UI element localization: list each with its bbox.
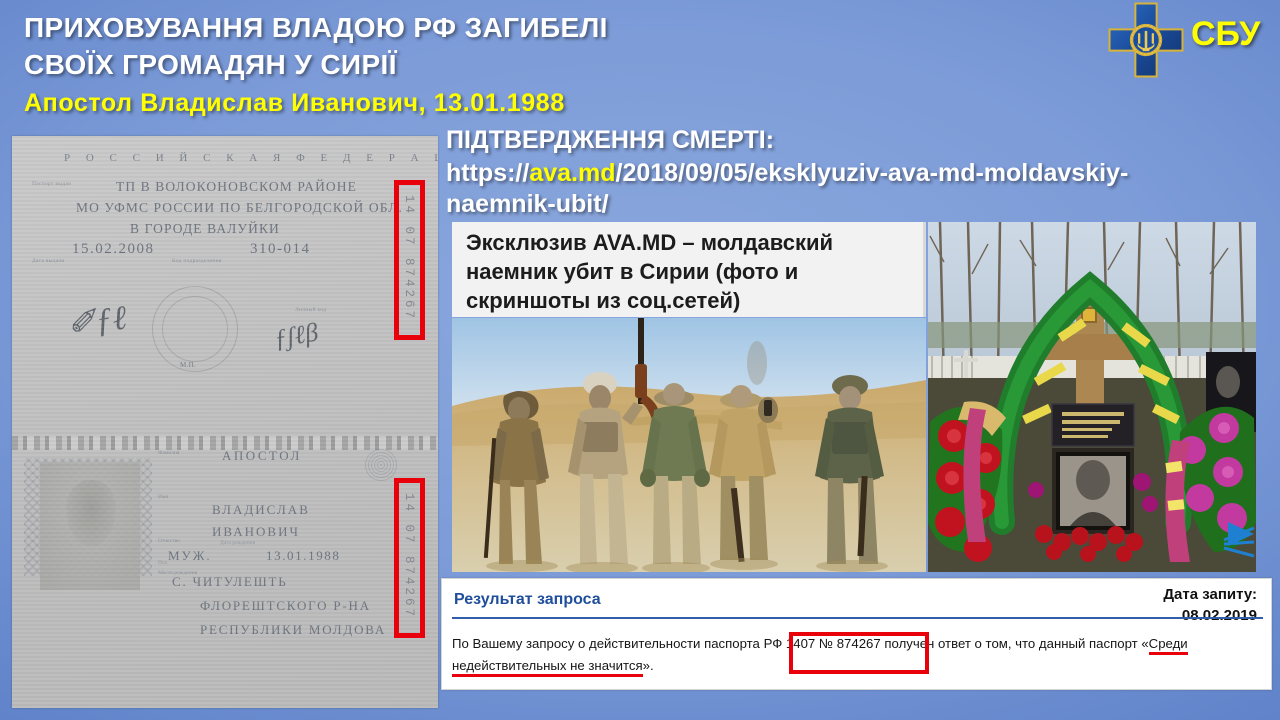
url-prefix: https://: [446, 159, 529, 187]
passport-authority-line1: ТП В ВОЛОКОНОВСКОМ РАЙОНЕ: [116, 179, 357, 195]
sbu-logo-text: СБУ: [1191, 15, 1260, 54]
article-headline: Эксклюзив AVA.MD – молдавский наемник уб…: [452, 222, 926, 317]
passport-label-surname: Фамилия: [158, 450, 179, 456]
page-title-line2: СВОЇХ ГРОМАДЯН У СИРІЇ: [24, 46, 1084, 83]
passport-birth-place-line1: С. ЧИТУЛЕШТЬ: [172, 574, 288, 590]
page-title: ПРИХОВУВАННЯ ВЛАДОЮ РФ ЗАГИБЕЛІ СВОЇХ ГР…: [24, 9, 1084, 83]
passport-signature-holder: ƒʃℓβ: [272, 317, 321, 354]
passport-holographic-emblem: [364, 448, 398, 482]
result-panel-divider: [452, 617, 1263, 619]
sbu-cross-icon: [1107, 2, 1185, 78]
result-body-part2: получен ответ о том, что данный паспорт …: [881, 636, 1149, 651]
page-title-line1: ПРИХОВУВАННЯ ВЛАДОЮ РФ ЗАГИБЕЛІ: [24, 9, 1084, 46]
passport-label-birthdate: Дата рождения: [220, 540, 255, 546]
url-domain-highlight: ava.md: [529, 159, 615, 187]
grave-illustration: [928, 222, 1256, 572]
soldiers-illustration: [452, 318, 926, 572]
annotation-box-serial-bottom: [394, 478, 425, 638]
photo-soldiers-group: [452, 318, 926, 572]
result-body-part1: По Вашему запросу о действительности пас…: [452, 636, 764, 651]
passport-surname-top: АПОСТОЛ: [222, 448, 302, 464]
passport-given-name: ВЛАДИСЛАВ: [212, 502, 310, 518]
passport-label-mp: М.П.: [180, 361, 196, 369]
passport-birth-place-line2: ФЛОРЕШТСКОГО Р-НА: [200, 598, 371, 614]
trident-icon: [1138, 31, 1155, 51]
grave-portrait: [1054, 450, 1132, 532]
sbu-logo: СБУ: [1107, 2, 1272, 78]
result-passport-number: РФ 1407 № 874267: [764, 636, 881, 651]
result-underlined-phrase-1: Среди: [1149, 636, 1188, 655]
passport-country-line: Р О С С И Й С К А Я Ф Е Д Е Р А Ц И Я: [64, 152, 438, 164]
passport-signature-officer: ✐ƒℓ: [65, 298, 129, 345]
presentation-slide: ПРИХОВУВАННЯ ВЛАДОЮ РФ ЗАГИБЕЛІ СВОЇХ ГР…: [0, 0, 1280, 720]
passport-scan-image: Р О С С И Й С К А Я Ф Е Д Е Р А Ц И Я Па…: [12, 136, 438, 708]
death-confirmation-url[interactable]: https://ava.md/2018/09/05/eksklyuziv-ava…: [446, 158, 1146, 220]
passport-label-name: Имя: [158, 494, 168, 500]
result-underlined-phrase-2: недействительных не значится: [452, 658, 643, 677]
annotation-box-serial-top: [394, 180, 425, 340]
passport-label-patronymic: Отчество: [158, 538, 180, 544]
passport-department-code: 310-014: [250, 241, 311, 258]
passport-birth-place-line3: РЕСПУБЛИКИ МОЛДОВА: [200, 622, 386, 638]
passport-sex: МУЖ.: [168, 548, 212, 564]
death-confirmation-label: ПІДТВЕРДЖЕННЯ СМЕРТІ:: [446, 126, 774, 155]
passport-authority-line2: МО УФМС РОССИИ ПО БЕЛГОРОДСКОЙ ОБЛ.: [76, 200, 403, 216]
passport-label-issue-date: Дата выдачи: [32, 258, 65, 264]
passport-official-stamp: [152, 286, 238, 372]
query-result-panel: Результат запроса Дата запиту: 08.02.201…: [441, 578, 1272, 690]
subject-name-subtitle: Апостол Владислав Иванович, 13.01.1988: [24, 88, 924, 118]
passport-photo-face: [66, 480, 116, 546]
passport-label-sex: Пол: [158, 560, 167, 566]
request-date-label: Дата запиту:: [1163, 584, 1257, 605]
passport-authority-line3: В ГОРОДЕ ВАЛУЙКИ: [130, 221, 280, 237]
passport-issue-date: 15.02.2008: [72, 241, 155, 258]
request-date-value: 08.02.2019: [1163, 605, 1257, 626]
grave-nameplate: [1052, 404, 1134, 446]
passport-label-issued-by: Паспорт выдан: [32, 181, 71, 187]
result-panel-title: Результат запроса: [454, 591, 601, 609]
result-body-part3: ».: [643, 658, 654, 673]
passport-birth-date: 13.01.1988: [266, 548, 341, 564]
passport-label-dept-code: Код подразделения: [172, 258, 222, 264]
photo-grave-memorial: [928, 222, 1256, 572]
passport-label-personal-code: Личный код: [295, 307, 326, 313]
request-date-block: Дата запиту: 08.02.2019: [1163, 584, 1257, 626]
passport-photo: [40, 462, 140, 590]
result-panel-body: По Вашему запросу о действительности пас…: [452, 633, 1266, 677]
passport-patronymic: ИВАНОВИЧ: [212, 524, 300, 540]
